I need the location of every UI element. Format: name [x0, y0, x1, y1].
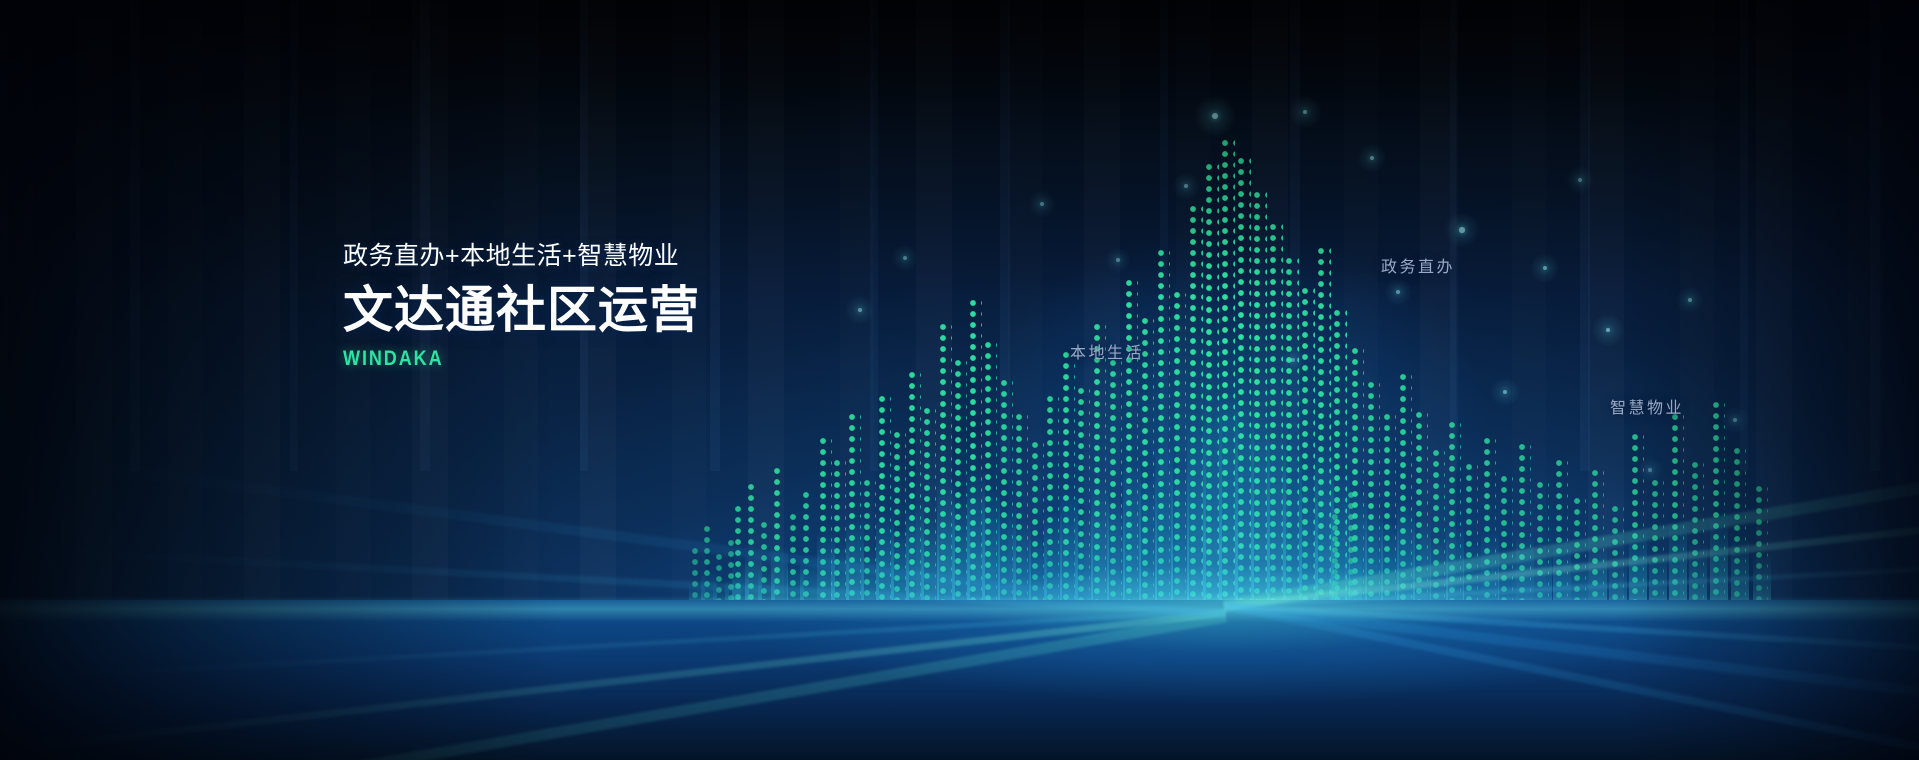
hero-copy-block: 政务直办+本地生活+智慧物业 文达通社区运营 WINDAKA — [343, 241, 1043, 371]
skyline-bar — [834, 460, 846, 610]
skyline-bar — [1016, 414, 1028, 610]
skyline-bar — [1501, 476, 1513, 610]
skyline-bar — [1286, 258, 1299, 610]
skyline-bar — [1110, 360, 1122, 610]
skyline-bar — [1416, 412, 1428, 610]
skyline-bar — [761, 522, 772, 610]
skyline-bar — [1400, 374, 1412, 610]
skyline-bar — [1332, 514, 1343, 610]
hero-title: 文达通社区运营 — [343, 282, 1043, 338]
skyline-bar — [1592, 470, 1604, 610]
skyline-bar — [879, 396, 891, 610]
skyline-bar — [1063, 352, 1075, 610]
skyline-bar — [1519, 444, 1531, 610]
skyline-bar — [1556, 460, 1568, 610]
floating-label-2: 本地生活 — [1070, 339, 1144, 363]
skyline-bar — [1574, 498, 1586, 610]
floating-label-1: 政务直办 — [1381, 253, 1455, 277]
skyline-bar — [1537, 482, 1549, 610]
skyline-bar — [1032, 442, 1044, 610]
skyline-bar — [774, 468, 785, 610]
hero-subtitle: 政务直办+本地生活+智慧物业 — [343, 241, 1043, 272]
skyline-bar — [790, 514, 801, 610]
skyline-bar — [748, 484, 759, 610]
skyline-bar — [1047, 396, 1059, 610]
skyline-bar — [803, 492, 814, 610]
skyline-bar — [1433, 450, 1445, 610]
skyline-bar — [864, 480, 876, 610]
skyline-bar — [955, 360, 967, 610]
skyline-bar — [1368, 382, 1380, 610]
skyline-bar — [1302, 288, 1315, 610]
skyline-bar — [985, 342, 997, 610]
skyline-bar — [1318, 248, 1331, 610]
skyline-bar — [894, 432, 906, 610]
brand-wordmark: WINDAKA — [343, 347, 945, 371]
skyline-bar — [849, 414, 861, 610]
left-vignette — [0, 0, 560, 760]
skyline-bar — [1174, 292, 1186, 610]
skyline-bar — [1348, 492, 1359, 610]
skyline-bar — [1078, 388, 1090, 610]
skyline-bar — [1001, 380, 1013, 610]
skyline-bar — [1484, 438, 1496, 610]
skyline-bar — [924, 408, 936, 610]
floating-label-3: 智慧物业 — [1610, 394, 1684, 418]
skyline-bar — [1126, 280, 1138, 610]
hero-banner: 政务直办本地生活智慧物业 政务直办+本地生活+智慧物业 文达通社区运营 WIND… — [0, 0, 1919, 760]
skyline-bar — [1384, 414, 1396, 610]
skyline-bar — [820, 438, 832, 610]
skyline-bar — [1094, 324, 1106, 610]
right-vignette — [1619, 0, 1919, 760]
skyline-bar — [1466, 464, 1478, 610]
skyline-bar — [909, 372, 921, 610]
skyline-bar — [1449, 422, 1461, 610]
skyline-bar — [1158, 250, 1170, 610]
skyline-bar — [704, 526, 714, 610]
